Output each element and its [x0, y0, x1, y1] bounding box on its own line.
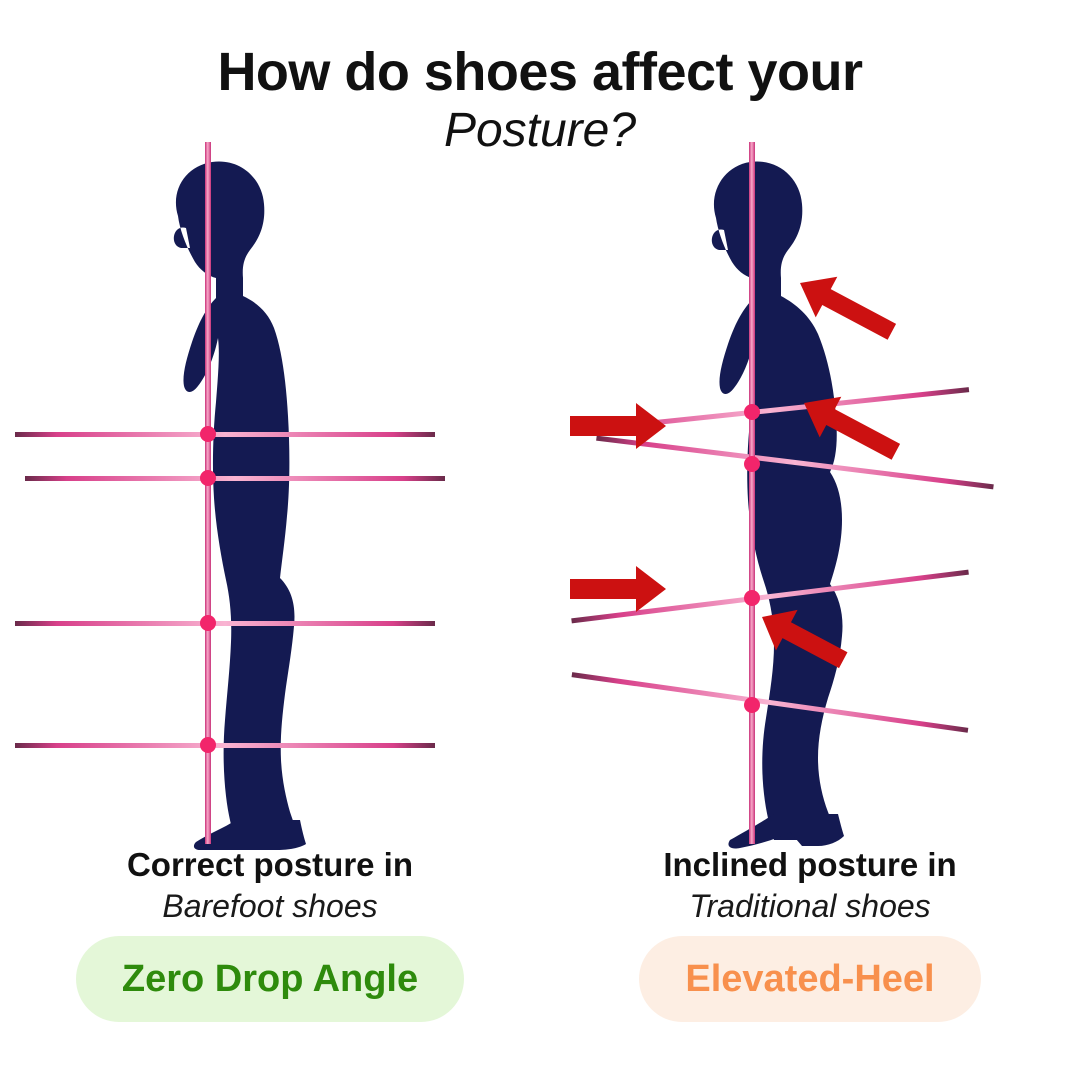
reference-line-ankle	[15, 743, 435, 748]
alignment-node	[200, 470, 216, 486]
human-silhouette-side-profile-icon	[712, 161, 844, 848]
caption-title-barefoot: Correct posture in	[0, 846, 540, 885]
reference-line-pelvis	[25, 476, 445, 481]
alignment-node	[200, 615, 216, 631]
figure-panel-traditional	[540, 120, 1080, 860]
pill-container-traditional: Elevated-Heel	[540, 936, 1080, 1022]
infographic-poster: How do shoes affect your Posture?	[0, 0, 1080, 1080]
caption-subtitle-barefoot: Barefoot shoes	[0, 887, 540, 925]
pill-container-barefoot: Zero Drop Angle	[0, 936, 540, 1022]
alignment-node	[744, 404, 760, 420]
reference-line-knee	[15, 621, 435, 626]
reference-line-shoulder-hip	[15, 432, 435, 437]
plumb-line-vertical	[749, 142, 755, 844]
badge-zero-drop-angle: Zero Drop Angle	[76, 936, 464, 1022]
caption-traditional: Inclined posture in Traditional shoes	[540, 846, 1080, 925]
alignment-node	[744, 456, 760, 472]
alignment-node	[200, 426, 216, 442]
title-line-primary: How do shoes affect your	[0, 44, 1080, 101]
caption-title-traditional: Inclined posture in	[540, 846, 1080, 885]
alignment-node	[200, 737, 216, 753]
caption-barefoot: Correct posture in Barefoot shoes	[0, 846, 540, 925]
alignment-node	[744, 590, 760, 606]
arrow-right-icon	[570, 566, 666, 612]
badge-elevated-heel: Elevated-Heel	[639, 936, 980, 1022]
figure-panel-barefoot	[0, 120, 540, 860]
alignment-node	[744, 697, 760, 713]
caption-subtitle-traditional: Traditional shoes	[540, 887, 1080, 925]
